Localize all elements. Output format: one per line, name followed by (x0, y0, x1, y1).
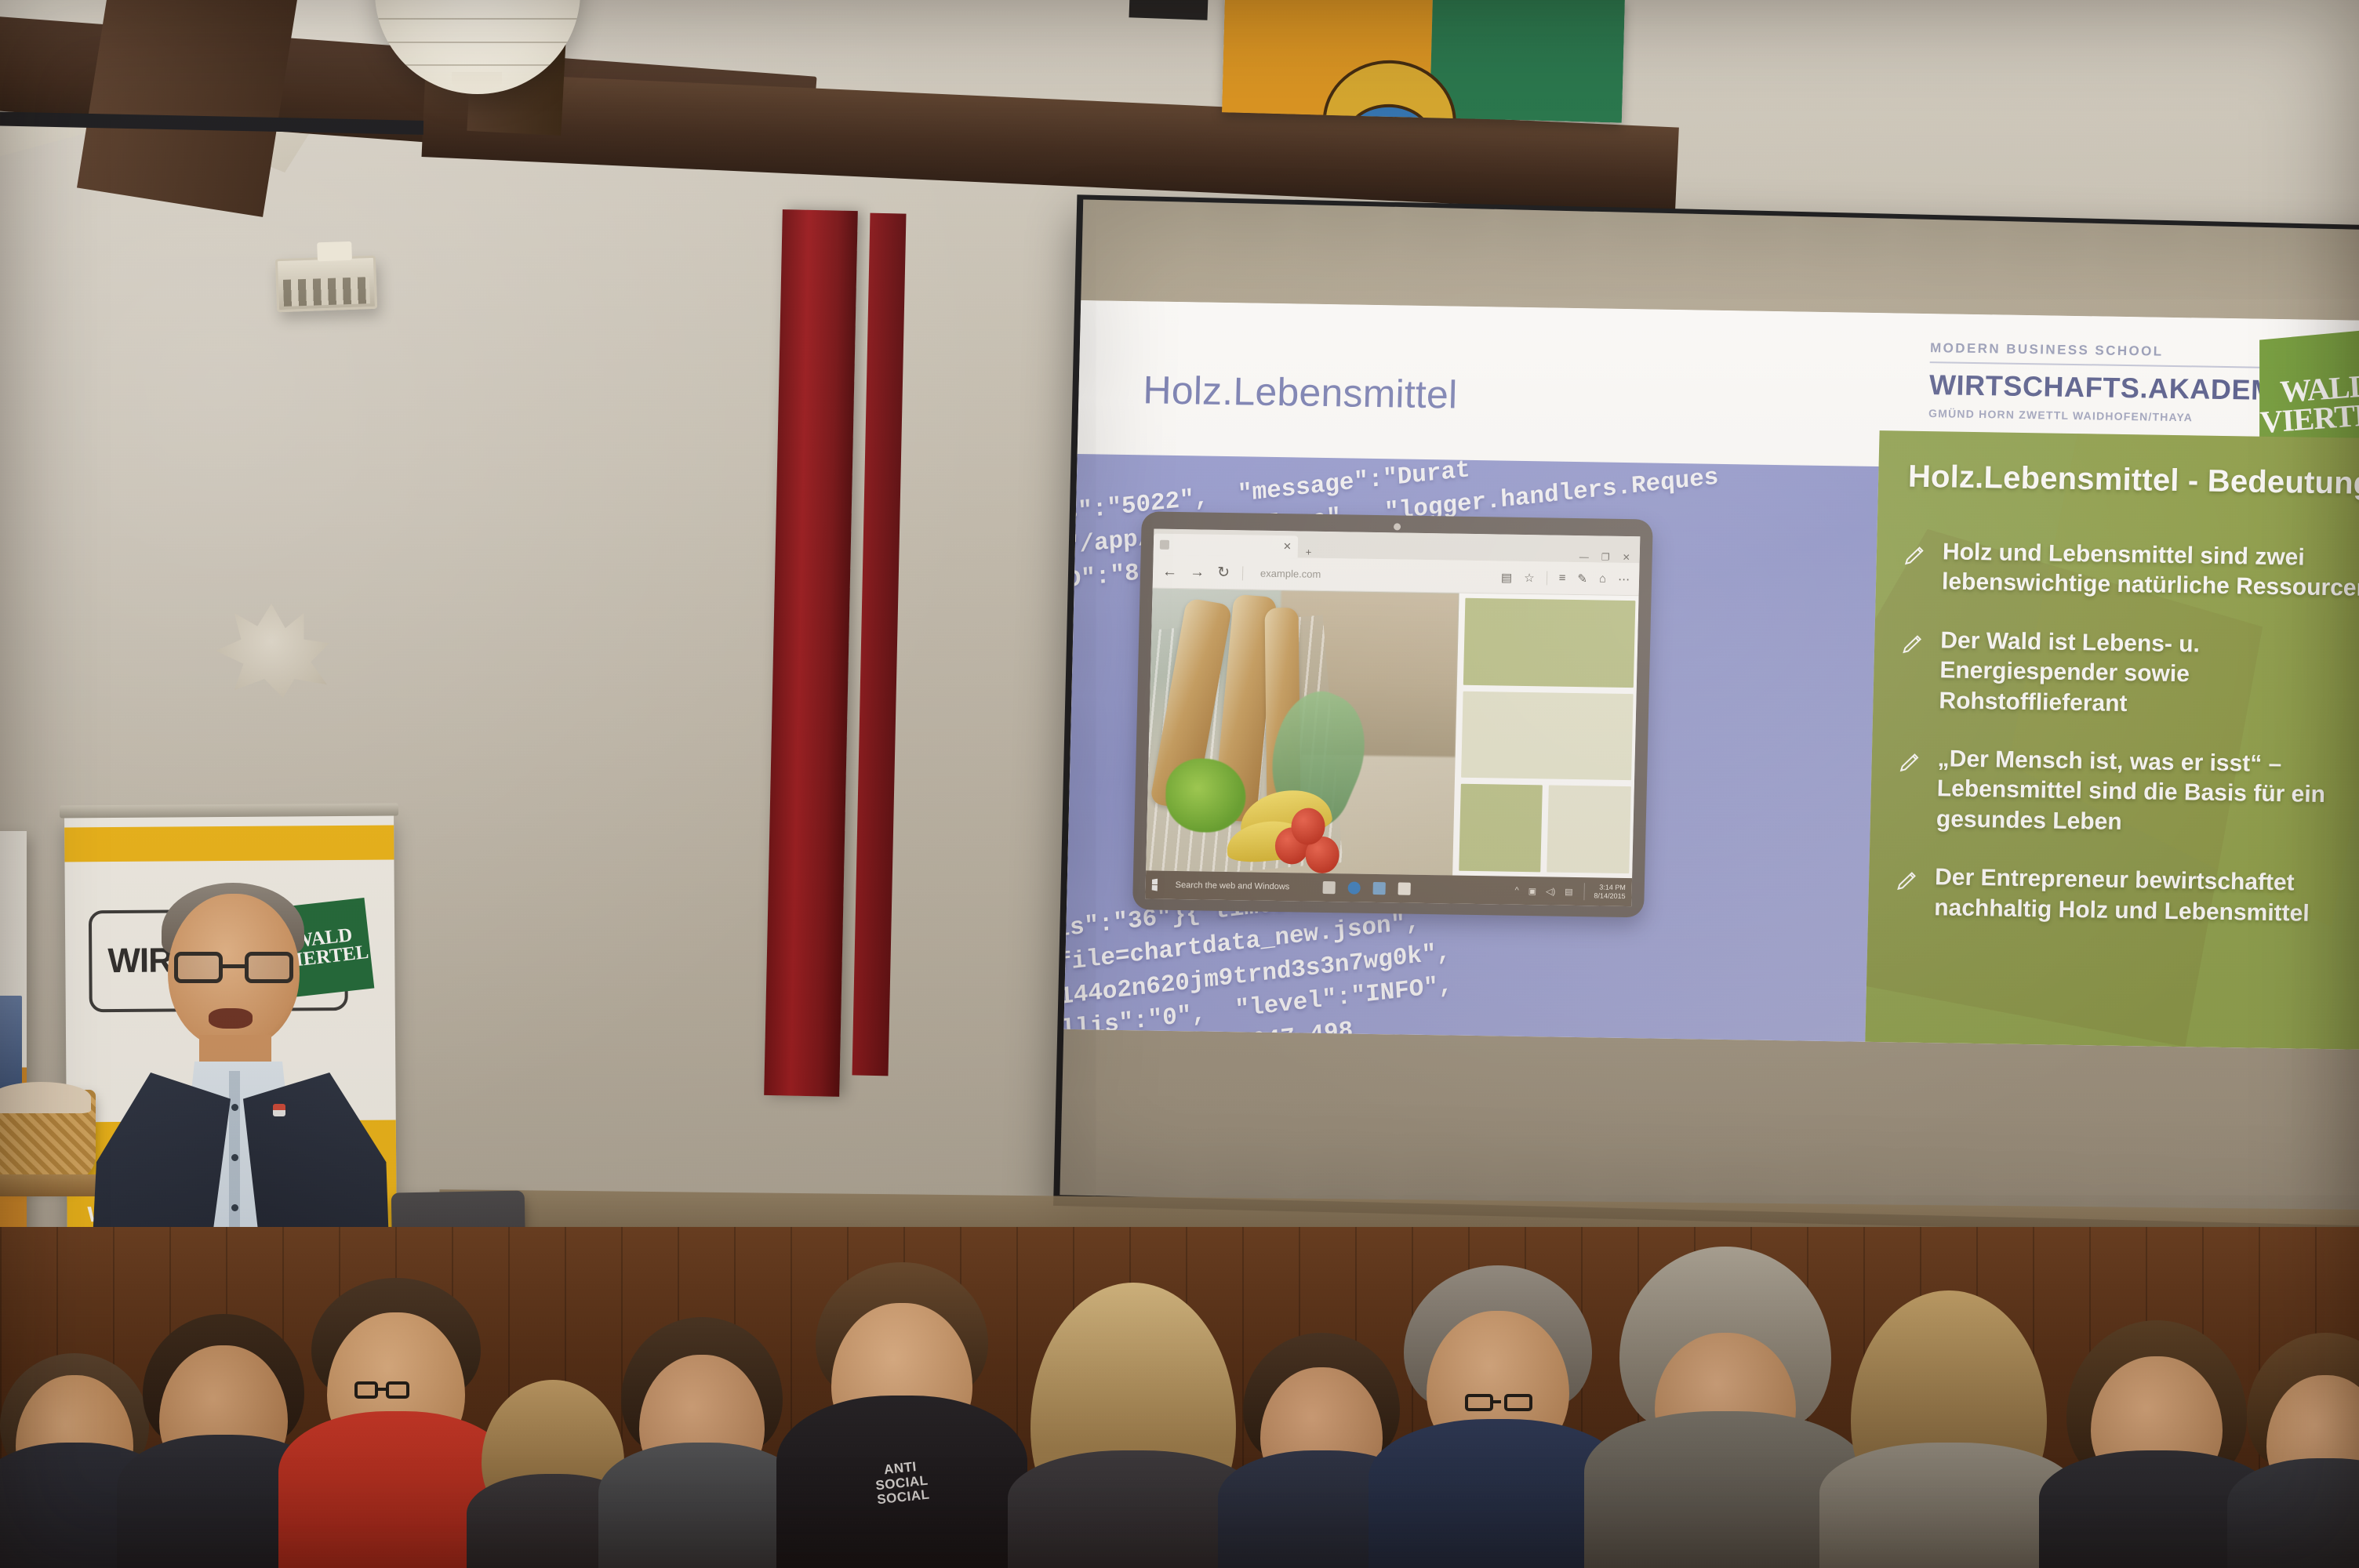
shirt-button (231, 1204, 238, 1211)
color-swatch-grid (1452, 593, 1639, 879)
tablet-camera-icon (1394, 523, 1401, 530)
rollup-top-rail (60, 803, 398, 818)
bullet-item: „Der Mensch ist, was er isst“ – Lebensmi… (1897, 743, 2359, 841)
bullet-list: Holz und Lebensmittel sind zwei lebenswi… (1895, 537, 2359, 931)
banner-green-half (1430, 0, 1625, 123)
hub-icon[interactable]: ≡ (1558, 572, 1565, 585)
tablet-device-mockup: ✕ + — ❐ ✕ ← → (1132, 511, 1653, 917)
browser-action-icons: ▤ ☆ ≡ ✎ ⌂ ⋯ (1501, 570, 1630, 586)
lapel-pin (273, 1104, 285, 1116)
swatch-tile (1547, 786, 1631, 873)
window-controls: — ❐ ✕ (1579, 551, 1640, 563)
tray-expand-icon[interactable]: ^ (1514, 886, 1518, 895)
audience-body (2227, 1458, 2359, 1568)
projection-screen: Holz.Lebensmittel MODERN BUSINESS SCHOOL… (1053, 194, 2359, 1236)
bullet-item: Holz und Lebensmittel sind zwei lebenswi… (1903, 537, 2359, 605)
glasses-lens-right (245, 952, 293, 983)
taskbar-search-box[interactable]: Search the web and Windows (1176, 880, 1290, 891)
lantern-base (452, 72, 502, 89)
waldviertel-logo-line2: VIERTEL (2259, 399, 2359, 437)
taskbar-clock[interactable]: 3:14 PM 8/14/2015 (1583, 883, 1626, 901)
pencil-icon (1896, 867, 1920, 894)
pencil-icon (1901, 630, 1925, 656)
clock-date: 8/14/2015 (1594, 891, 1625, 901)
browser-tab[interactable]: ✕ (1154, 534, 1299, 558)
audience-glasses-icon (1465, 1394, 1532, 1411)
slide-title: Holz.Lebensmittel (1143, 367, 1458, 417)
brand-divider (1930, 361, 2267, 368)
speaker-grill (283, 277, 370, 307)
banner-photo (0, 996, 22, 1090)
hoodie-graphic-text: ANTI SOCIAL SOCIAL (874, 1459, 931, 1508)
bullet-text: „Der Mensch ist, was er isst“ – Lebensmi… (1936, 744, 2359, 841)
audience-glasses-icon (354, 1381, 409, 1399)
maximize-icon[interactable]: ❐ (1601, 552, 1610, 563)
audience-member (1592, 1247, 1859, 1568)
browser-window: ✕ + — ❐ ✕ ← → (1145, 529, 1640, 907)
code-background-panel: echars":"5022", "message":"Durat URL":"/… (1063, 454, 1878, 1042)
audience-member: ANTI SOCIAL SOCIAL (784, 1262, 1020, 1568)
presenter-glasses-icon (174, 952, 293, 983)
slide-content-panel: Holz.Lebensmittel - Bedeutung Holz und L… (1865, 430, 2359, 1050)
grocery-cart-photo (1146, 589, 1459, 876)
tab-favicon-icon (1160, 540, 1169, 550)
windows-start-icon[interactable] (1152, 879, 1165, 891)
panel-heading: Holz.Lebensmittel - Bedeutung (1878, 459, 2359, 502)
store-icon[interactable] (1372, 882, 1385, 895)
pencil-icon (1903, 542, 1928, 568)
edge-browser-icon[interactable] (1347, 881, 1360, 894)
swatch-tile (1463, 598, 1635, 688)
back-icon[interactable]: ← (1162, 563, 1178, 580)
url-input[interactable]: example.com (1260, 568, 1321, 580)
forward-icon[interactable]: → (1190, 564, 1205, 581)
audience-member (604, 1317, 800, 1568)
brand-tagline: MODERN BUSINESS SCHOOL (1930, 340, 2267, 361)
projected-slide: Holz.Lebensmittel MODERN BUSINESS SCHOOL… (1063, 300, 2359, 1050)
wall-speaker-fixture (275, 256, 377, 312)
heraldic-banner (1222, 0, 1625, 123)
glasses-bridge (223, 964, 245, 968)
audience-body (598, 1443, 805, 1568)
shirt-button (231, 1104, 238, 1111)
bullet-text: Der Entrepreneur bewirtschaftet nachhalt… (1934, 862, 2359, 930)
academy-brand-lockup: MODERN BUSINESS SCHOOL WIRTSCHAFTS.AKADE… (1928, 340, 2267, 425)
system-tray: ^ ▣ ◁) ▤ (1514, 885, 1572, 896)
actions-divider (1546, 571, 1547, 585)
bullet-text: Holz und Lebensmittel sind zwei lebenswi… (1942, 537, 2359, 604)
office-icon[interactable] (1398, 882, 1410, 895)
taskbar-app-icons (1322, 881, 1410, 895)
new-tab-icon[interactable]: + (1306, 546, 1312, 558)
more-icon[interactable]: ⋯ (1618, 572, 1630, 586)
web-note-icon[interactable]: ✎ (1577, 572, 1587, 586)
screen-surface: Holz.Lebensmittel MODERN BUSINESS SCHOOL… (1060, 199, 2359, 1225)
bullet-item: Der Entrepreneur bewirtschaftet nachhalt… (1895, 862, 2359, 931)
tomato (1291, 808, 1325, 845)
pencil-icon (1898, 748, 1922, 775)
network-icon[interactable]: ▣ (1528, 886, 1537, 896)
favorite-star-icon[interactable]: ☆ (1524, 570, 1535, 584)
bullet-item: Der Wald ist Lebens- u. Energiespender s… (1899, 625, 2359, 723)
presentation-room-photo: Holz.Lebensmittel MODERN BUSINESS SCHOOL… (0, 0, 2359, 1568)
browser-page-content (1146, 589, 1638, 879)
brand-name: WIRTSCHAFTS.AKADEMIE (1929, 368, 2267, 407)
rollup-yellow-top-band (64, 826, 394, 862)
refresh-icon[interactable]: ↻ (1217, 564, 1230, 582)
glasses-lens-left (174, 952, 223, 983)
ceiling-beam-vertical (77, 0, 300, 217)
brand-locations: GMÜND HORN ZWETTL WAIDHOFEN/THAYA (1928, 407, 2266, 425)
audience-row: ANTI SOCIAL SOCIAL (0, 1223, 2359, 1568)
clock-time: 3:14 PM (1594, 883, 1626, 892)
close-icon[interactable]: ✕ (1622, 552, 1630, 563)
address-divider (1242, 566, 1243, 580)
share-icon[interactable]: ⌂ (1599, 572, 1606, 585)
minimize-icon[interactable]: — (1579, 551, 1589, 562)
swatch-tile (1459, 784, 1543, 872)
presenter-mouth (209, 1008, 253, 1029)
task-view-icon[interactable] (1322, 881, 1335, 894)
bullet-text: Der Wald ist Lebens- u. Energiespender s… (1939, 626, 2359, 723)
action-center-icon[interactable]: ▤ (1565, 886, 1573, 896)
audience-member (1380, 1262, 1616, 1568)
audience-member (1827, 1278, 2070, 1568)
audience-member (2235, 1333, 2359, 1568)
swatch-tile (1461, 691, 1634, 780)
reading-view-icon[interactable]: ▤ (1501, 570, 1513, 584)
tab-close-icon[interactable]: ✕ (1283, 540, 1292, 553)
volume-icon[interactable]: ◁) (1546, 886, 1555, 896)
ceiling-vent (1129, 0, 1209, 20)
shirt-button (231, 1154, 238, 1161)
